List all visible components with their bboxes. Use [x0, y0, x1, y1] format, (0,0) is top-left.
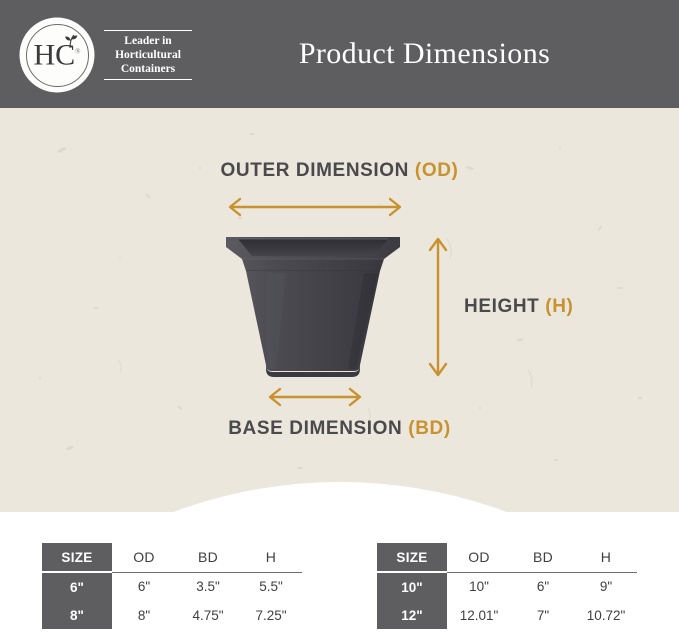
height-arrow-icon: [427, 232, 449, 382]
table-row: 8" 8" 4.75" 7.25": [42, 601, 302, 629]
table-row: 6" 6" 3.5" 5.5": [42, 572, 302, 601]
table-row: 10" 10" 6" 9": [377, 572, 637, 601]
cell-bd: 3.5": [176, 572, 240, 601]
column-header-bd: BD: [176, 543, 240, 572]
column-header-size: SIZE: [42, 543, 112, 572]
base-dimension-label: BASE DIMENSION (BD): [0, 418, 679, 440]
column-header-od: OD: [447, 543, 511, 572]
cell-size: 12": [377, 601, 447, 629]
column-header-h: H: [240, 543, 302, 572]
column-header-size: SIZE: [377, 543, 447, 572]
tagline-line-2: Horticultural: [104, 48, 192, 62]
tagline-line-3: Containers: [104, 62, 192, 76]
cell-bd: 6": [511, 572, 575, 601]
height-text: HEIGHT: [464, 296, 539, 317]
base-dimension-abbr: (BD): [408, 418, 451, 439]
table-header-row: SIZE OD BD H: [42, 543, 302, 572]
header-bar: HC® Leader in Horticultural Containers P…: [0, 0, 679, 108]
outer-dimension-arrow-icon: [222, 196, 408, 218]
column-header-h: H: [575, 543, 637, 572]
column-header-od: OD: [112, 543, 176, 572]
cell-bd: 7": [511, 601, 575, 629]
brand-logo: HC® Leader in Horticultural Containers: [22, 18, 192, 92]
outer-dimension-abbr: (OD): [415, 160, 459, 181]
cell-bd: 4.75": [176, 601, 240, 629]
dimensions-table-small: SIZE OD BD H 6" 6" 3.5" 5.5" 8" 8" 4.75"…: [42, 543, 342, 631]
cell-od: 12.01": [447, 601, 511, 629]
dimensions-table-large: SIZE OD BD H 10" 10" 6" 9" 12" 12.01" 7"…: [377, 543, 677, 631]
logo-monogram: HC®: [22, 41, 92, 71]
registered-mark: ®: [75, 48, 80, 56]
cell-od: 6": [112, 572, 176, 601]
base-dimension-text: BASE DIMENSION: [228, 418, 402, 439]
table-header-row: SIZE OD BD H: [377, 543, 637, 572]
height-abbr: (H): [545, 296, 573, 317]
dimension-table: SIZE OD BD H 6" 6" 3.5" 5.5" 8" 8" 4.75"…: [42, 543, 302, 629]
tagline-line-1: Leader in: [104, 34, 192, 48]
cell-size: 10": [377, 572, 447, 601]
cell-h: 9": [575, 572, 637, 601]
brand-tagline: Leader in Horticultural Containers: [104, 30, 192, 80]
table-row: 12" 12.01" 7" 10.72": [377, 601, 637, 629]
logo-monogram-text: HC: [33, 39, 75, 72]
cell-h: 5.5": [240, 572, 302, 601]
logo-circle-icon: HC®: [22, 20, 92, 90]
cell-od: 10": [447, 572, 511, 601]
square-planter-pot-icon: [224, 231, 402, 383]
cell-size: 6": [42, 572, 112, 601]
outer-dimension-text: OUTER DIMENSION: [221, 160, 409, 181]
column-header-bd: BD: [511, 543, 575, 572]
cell-size: 8": [42, 601, 112, 629]
dimension-table: SIZE OD BD H 10" 10" 6" 9" 12" 12.01" 7"…: [377, 543, 637, 629]
cell-od: 8": [112, 601, 176, 629]
base-dimension-arrow-icon: [262, 386, 368, 408]
cell-h: 10.72": [575, 601, 637, 629]
cell-h: 7.25": [240, 601, 302, 629]
height-label: HEIGHT (H): [464, 296, 573, 318]
outer-dimension-label: OUTER DIMENSION (OD): [0, 160, 679, 182]
